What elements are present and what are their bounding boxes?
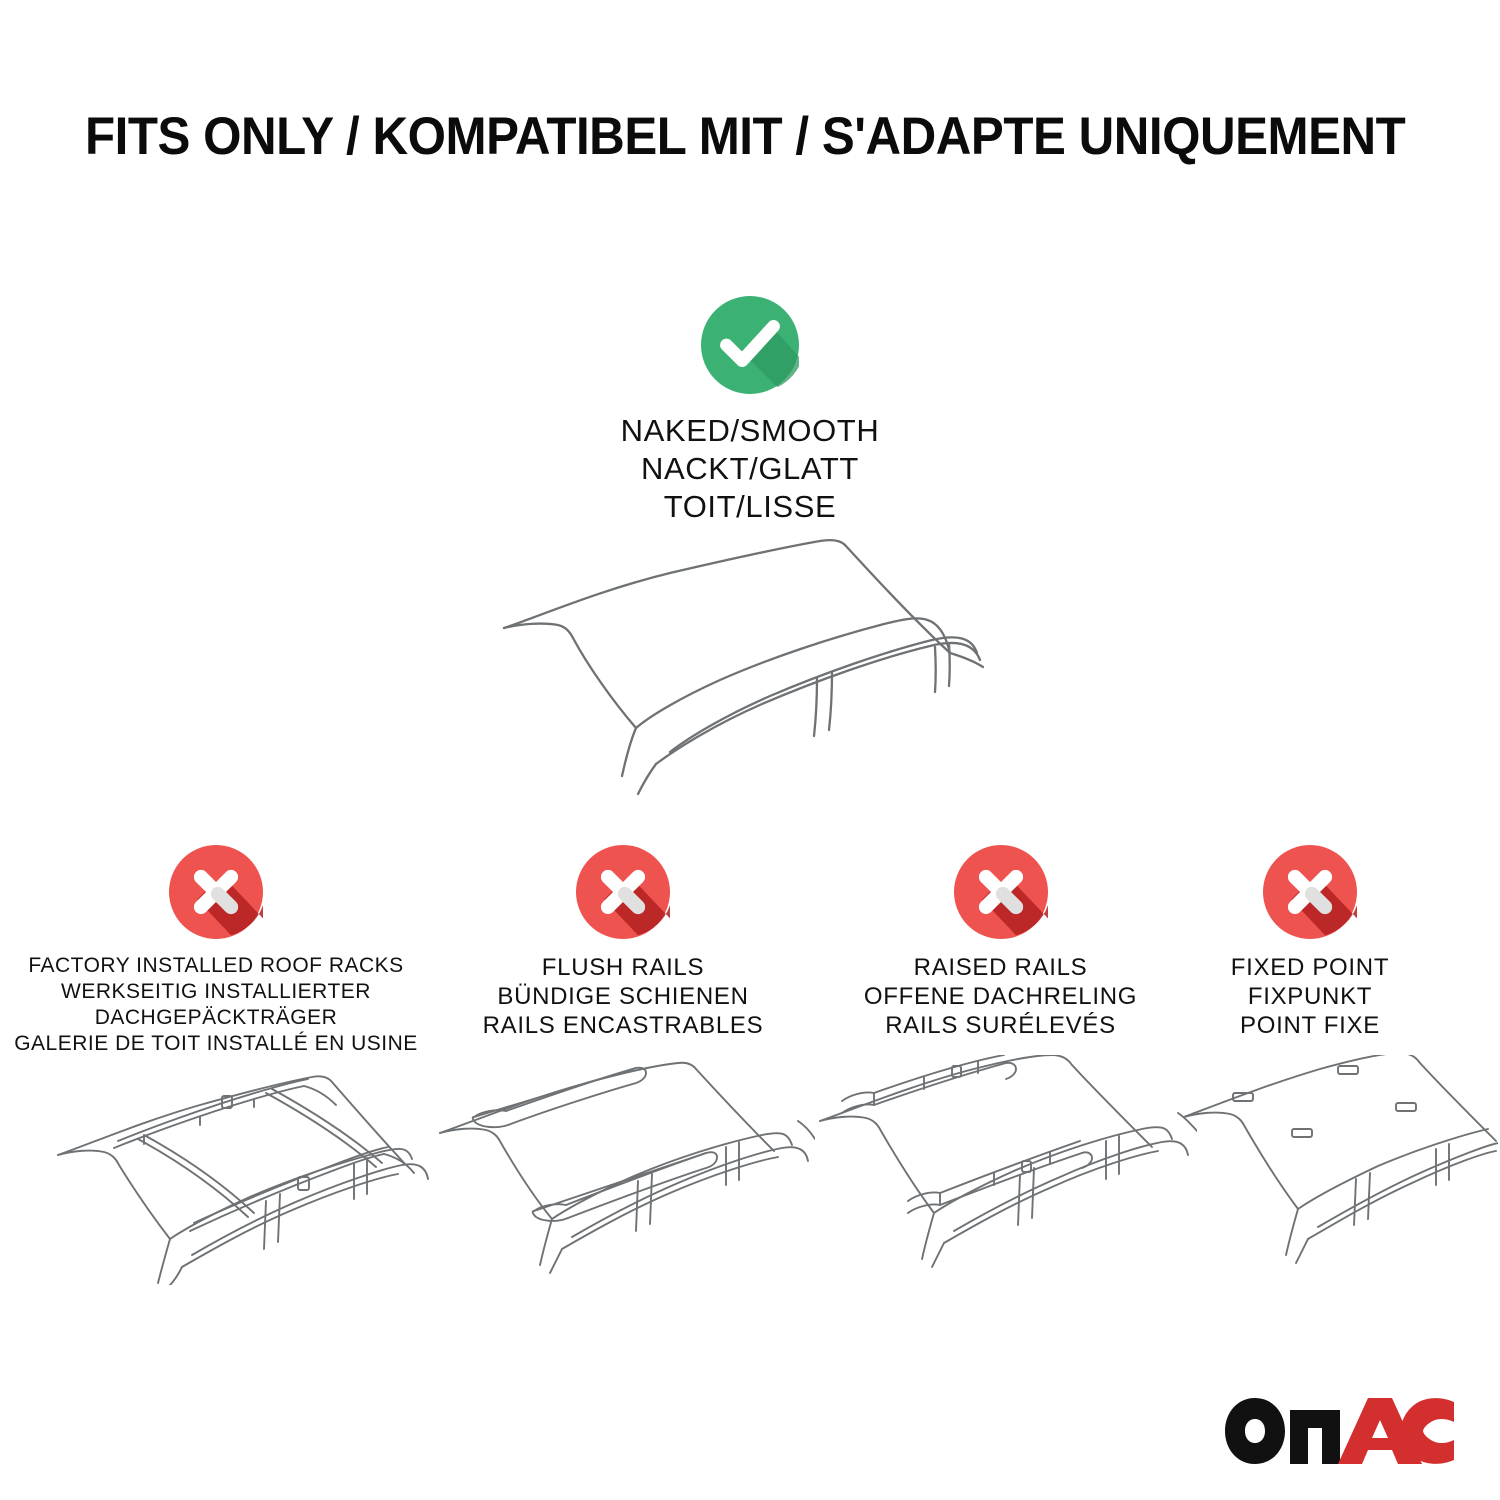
- naked-smooth-roof-art: [480, 520, 1040, 800]
- incompatible-label-fr: RAILS ENCASTRABLES: [428, 1011, 818, 1040]
- compatible-labels: NAKED/SMOOTH NACKT/GLATT TOIT/LISSE: [430, 412, 1070, 526]
- x-circle-icon: [576, 845, 670, 939]
- flush-rails-art: [430, 1055, 815, 1285]
- incompatible-label-de: OFFENE DACHRELING: [808, 982, 1193, 1011]
- incompatible-label-fr: GALERIE DE TOIT INSTALLÉ EN USINE: [7, 1031, 425, 1057]
- page-title: FITS ONLY / KOMPATIBEL MIT / S'ADAPTE UN…: [85, 107, 1331, 167]
- logo-letter-o: [1225, 1398, 1285, 1464]
- incompatible-labels: FLUSH RAILS BÜNDIGE SCHIENEN RAILS ENCAS…: [428, 953, 818, 1040]
- incompatible-label-de-1: WERKSEITIG INSTALLIERTER: [7, 979, 425, 1005]
- omac-logo: [1222, 1392, 1454, 1470]
- fixed-point-illustration: [1178, 1055, 1498, 1285]
- incompatible-cell-raised-rails: RAISED RAILS OFFENE DACHRELING RAILS SUR…: [808, 845, 1193, 1040]
- incompatible-label-de: FIXPUNKT: [1165, 982, 1455, 1011]
- check-circle-icon: [701, 296, 799, 394]
- omac-logo-mark: [1222, 1392, 1454, 1470]
- incompatible-row: FACTORY INSTALLED ROOF RACKS WERKSEITIG …: [0, 845, 1500, 1075]
- fixed-point-art: [1178, 1055, 1498, 1285]
- x-circle-icon: [954, 845, 1048, 939]
- incompatible-label-fr: POINT FIXE: [1165, 1011, 1455, 1040]
- incompatible-labels: FACTORY INSTALLED ROOF RACKS WERKSEITIG …: [7, 953, 425, 1057]
- incompatible-label-fr: RAILS SURÉLEVÉS: [808, 1011, 1193, 1040]
- incompatible-cell-fixed-point: FIXED POINT FIXPUNKT POINT FIXE: [1165, 845, 1455, 1040]
- compatible-label-de: NACKT/GLATT: [430, 450, 1070, 488]
- incompatible-labels: RAISED RAILS OFFENE DACHRELING RAILS SUR…: [808, 953, 1193, 1040]
- incompatible-label-en: FIXED POINT: [1165, 953, 1455, 982]
- incompatible-cell-factory-roof-rack: FACTORY INSTALLED ROOF RACKS WERKSEITIG …: [7, 845, 425, 1057]
- incompatible-label-en: RAISED RAILS: [808, 953, 1193, 982]
- raised-rails-illustration: [812, 1055, 1197, 1285]
- factory-roof-rack-illustration: [40, 1055, 430, 1285]
- x-circle-icon: [169, 845, 263, 939]
- incompatible-label-en: FACTORY INSTALLED ROOF RACKS: [7, 953, 425, 979]
- flush-rails-illustration: [430, 1055, 815, 1285]
- incompatible-labels: FIXED POINT FIXPUNKT POINT FIXE: [1165, 953, 1455, 1040]
- raised-rails-art: [812, 1055, 1197, 1285]
- compatible-label-en: NAKED/SMOOTH: [430, 412, 1070, 450]
- factory-roof-rack-art: [40, 1055, 430, 1285]
- logo-letter-m: [1290, 1410, 1340, 1464]
- incompatible-label-de-2: DACHGEPÄCKTRÄGER: [7, 1005, 425, 1031]
- incompatible-label-en: FLUSH RAILS: [428, 953, 818, 982]
- naked-smooth-roof-illustration: [480, 520, 1040, 800]
- x-circle-icon: [1263, 845, 1357, 939]
- incompatible-cell-flush-rails: FLUSH RAILS BÜNDIGE SCHIENEN RAILS ENCAS…: [428, 845, 818, 1040]
- incompatible-label-de: BÜNDIGE SCHIENEN: [428, 982, 818, 1011]
- compatible-block: NAKED/SMOOTH NACKT/GLATT TOIT/LISSE: [430, 296, 1070, 526]
